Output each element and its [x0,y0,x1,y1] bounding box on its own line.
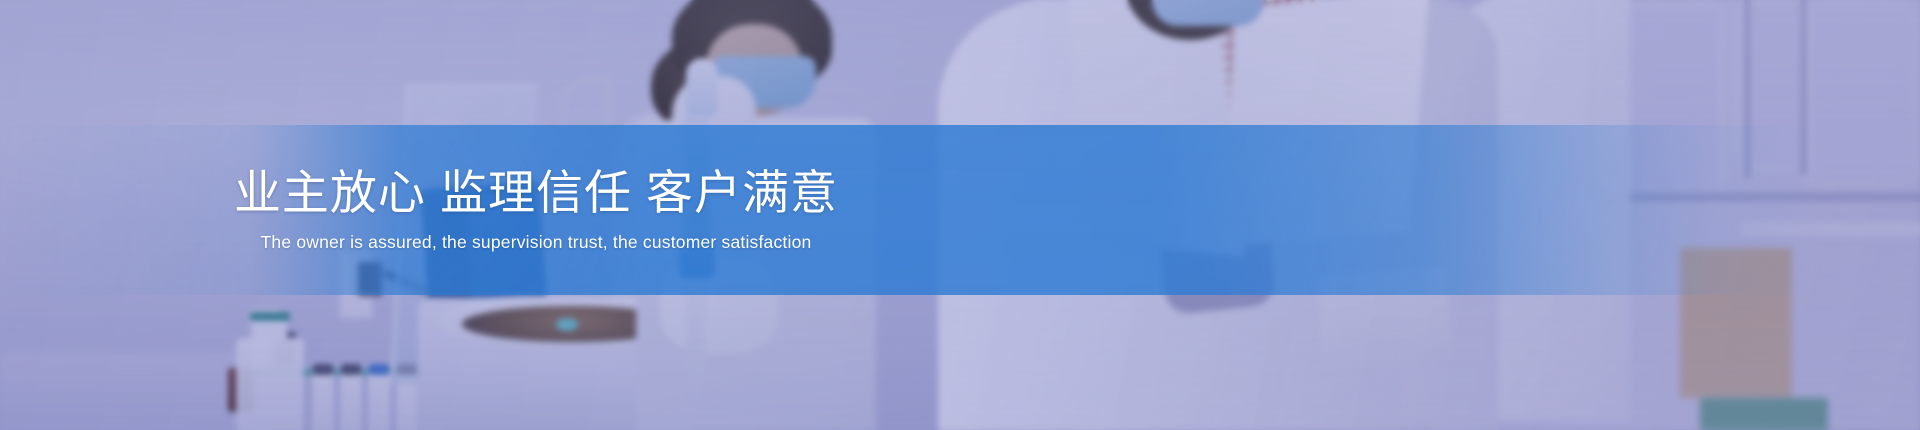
banner-headline: 业主放心 监理信任 客户满意 [0,165,1072,220]
caption-text-stack: 业主放心 监理信任 客户满意 The owner is assured, the… [0,165,1072,256]
hero-banner: 业主放心 监理信任 客户满意 The owner is assured, the… [0,0,1920,430]
caption-content: 业主放心 监理信任 客户满意 The owner is assured, the… [0,125,1920,295]
banner-subtitle: The owner is assured, the supervision tr… [0,229,1072,255]
